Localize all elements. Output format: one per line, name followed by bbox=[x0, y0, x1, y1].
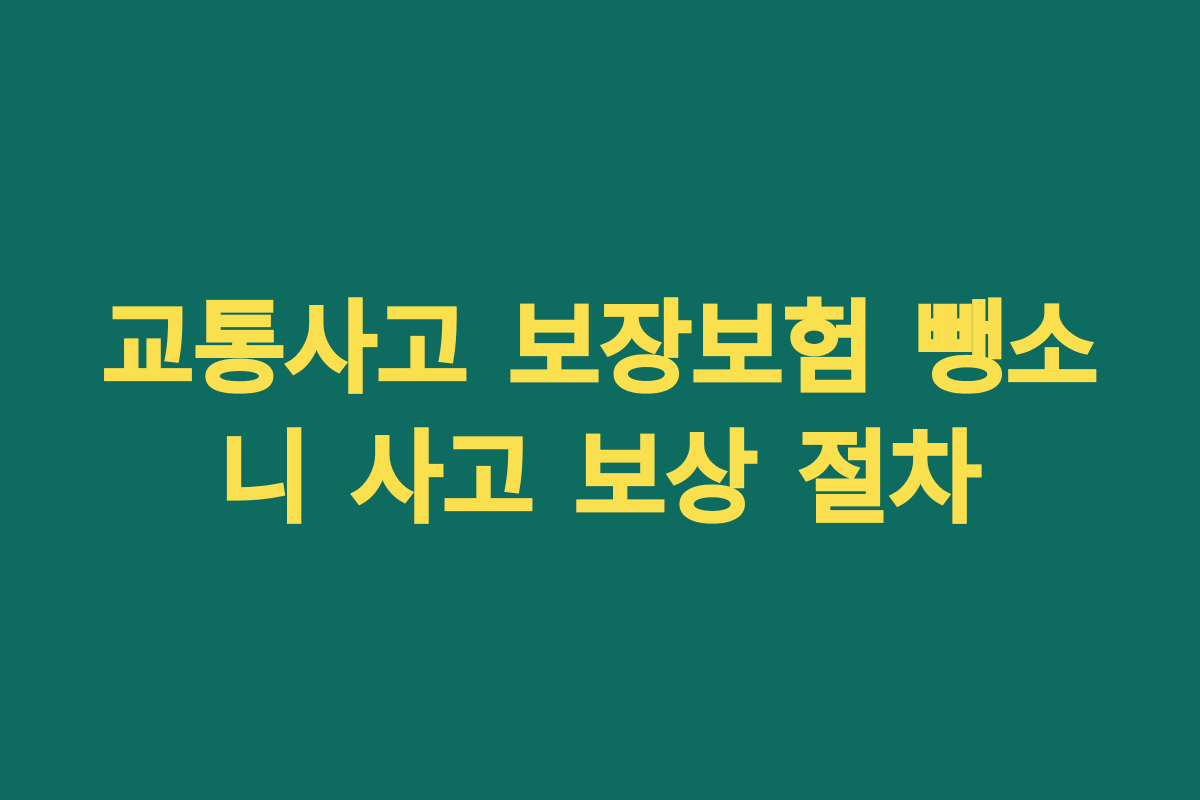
banner-title: 교통사고 보장보험 뺑소니 사고 보상 절차 bbox=[75, 284, 1125, 544]
title-block: 교통사고 보장보험 뺑소니 사고 보상 절차 bbox=[75, 284, 1125, 544]
thumbnail-banner: 교통사고 보장보험 뺑소니 사고 보상 절차 bbox=[0, 0, 1200, 800]
